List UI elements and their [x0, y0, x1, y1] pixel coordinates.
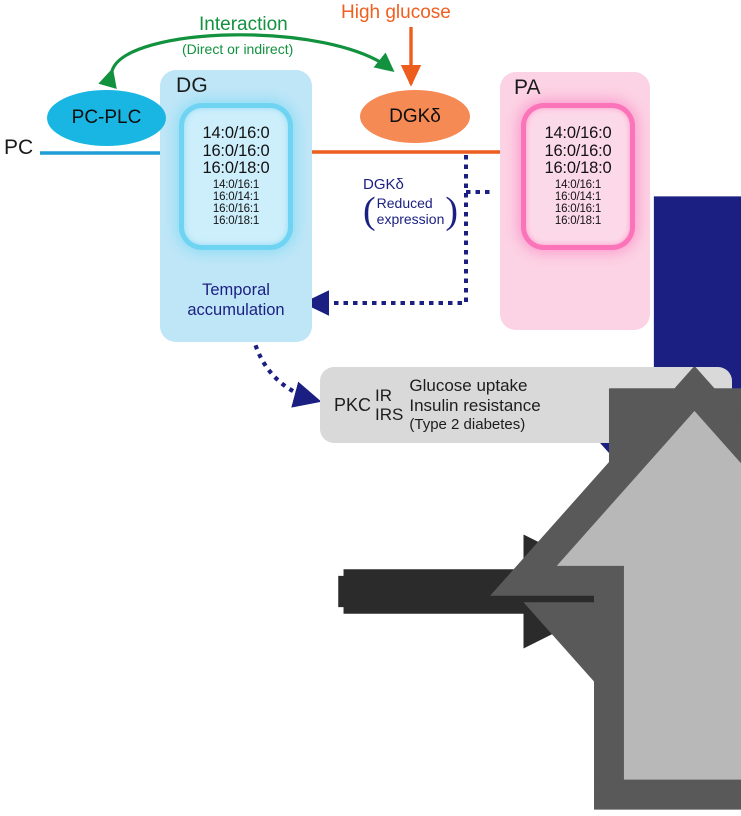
reduced-line-1: Reduced — [377, 195, 445, 211]
temporal-line-1: Temporal — [168, 281, 304, 301]
pc-plc-node: PC-PLC — [47, 90, 166, 146]
reduced-expression-body: ( Reduced expression ) — [363, 195, 483, 227]
diabetes-note: (Type 2 diabetes) — [409, 416, 540, 434]
dg-minor-species: 16:0/16:1 — [213, 204, 259, 216]
dg-major-species: 14:0/16:0 — [202, 125, 269, 142]
pa-species-list: 14:0/16:0 16:0/16:0 16:0/18:0 14:0/16:1 … — [526, 108, 630, 245]
pa-major-species: 16:0/16:0 — [544, 143, 611, 160]
pathway-diagram: DG 14:0/16:0 16:0/16:0 16:0/18:0 14:0/16… — [0, 0, 741, 449]
pa-minor-species-group: 14:0/16:1 16:0/14:1 16:0/16:1 16:0/18:1 — [555, 180, 601, 228]
pa-minor-species: 16:0/16:1 — [555, 204, 601, 216]
outcome-box: PKC IR IRS — [320, 367, 732, 443]
dgk-delta-node: DGKδ — [360, 90, 470, 143]
dg-major-species: 16:0/16:0 — [202, 143, 269, 160]
dgk-delta-label: DGKδ — [389, 106, 441, 128]
irs-label: IRS — [375, 405, 403, 424]
double-chain-arrow-icon — [324, 367, 741, 816]
high-glucose-label: High glucose — [341, 2, 451, 24]
temporal-accumulation-label: Temporal accumulation — [168, 281, 304, 321]
temporal-line-2: accumulation — [168, 301, 304, 321]
pa-species-box: 14:0/16:0 16:0/16:0 16:0/18:0 14:0/16:1 … — [526, 108, 630, 245]
pa-minor-species: 14:0/16:1 — [555, 180, 601, 192]
up-arrow-icon — [321, 367, 741, 816]
pc-substrate-label: PC — [4, 136, 33, 160]
down-arrow-icon — [324, 367, 741, 816]
pa-minor-species: 16:0/14:1 — [555, 192, 601, 204]
dg-minor-species: 16:0/18:1 — [213, 216, 259, 228]
pa-panel-title: PA — [514, 76, 540, 100]
ir-label: IR — [375, 386, 403, 405]
interaction-sublabel: (Direct or indirect) — [182, 41, 293, 57]
reduced-expression-annotation: DGKδ ( Reduced expression ) — [363, 176, 483, 227]
insulin-resistance-row: Insulin resistance — [409, 396, 540, 416]
up-arrow-icon — [324, 367, 741, 816]
reduced-expression-text: Reduced expression — [377, 195, 445, 227]
interaction-label: Interaction — [199, 14, 288, 36]
down-arrow-icon — [326, 367, 741, 816]
dg-minor-species-group: 14:0/16:1 16:0/14:1 16:0/16:1 16:0/18:1 — [213, 180, 259, 228]
reduced-line-2: expression — [377, 211, 445, 227]
receptor-group: IR IRS — [375, 386, 403, 424]
dg-major-species: 16:0/18:0 — [202, 160, 269, 177]
insulin-resistance-label: Insulin resistance — [409, 396, 540, 416]
pkc-label: PKC — [334, 395, 371, 416]
chain-arrow-icon — [325, 367, 741, 816]
pa-minor-species: 16:0/18:1 — [555, 216, 601, 228]
dg-species-list: 14:0/16:0 16:0/16:0 16:0/18:0 14:0/16:1 … — [184, 108, 288, 245]
outcome-group: Glucose uptake Insulin resistance (Type … — [409, 376, 540, 434]
dg-species-box: 14:0/16:0 16:0/16:0 16:0/18:0 14:0/16:1 … — [184, 108, 288, 245]
dg-minor-species: 16:0/14:1 — [213, 192, 259, 204]
dg-panel-title: DG — [176, 74, 208, 98]
pa-major-species: 14:0/16:0 — [544, 125, 611, 142]
outcome-content: PKC IR IRS — [320, 367, 732, 443]
pkc-group: PKC — [334, 395, 371, 416]
pa-major-species: 16:0/18:0 — [544, 160, 611, 177]
glucose-uptake-row: Glucose uptake — [409, 376, 540, 396]
dg-minor-species: 14:0/16:1 — [213, 180, 259, 192]
pc-plc-label: PC-PLC — [72, 107, 142, 129]
reduced-expression-header: DGKδ — [363, 176, 483, 193]
glucose-uptake-label: Glucose uptake — [409, 376, 527, 396]
